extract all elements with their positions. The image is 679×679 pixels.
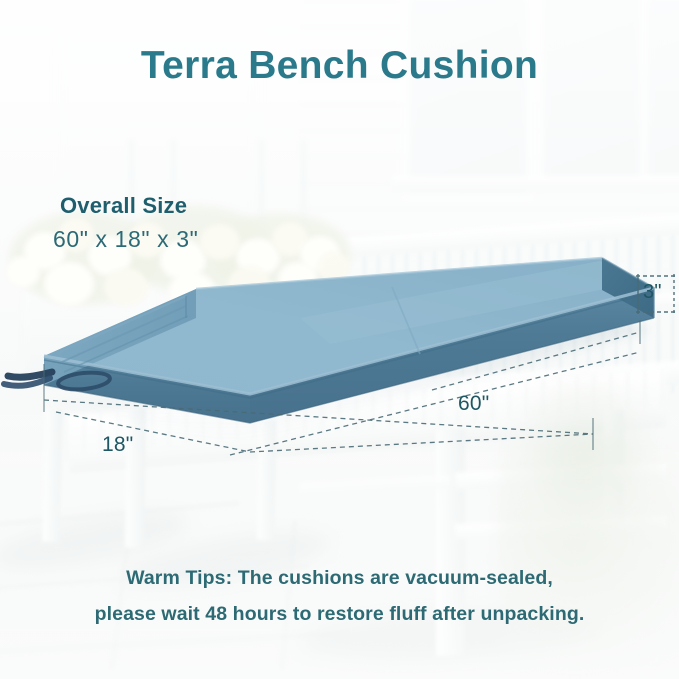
warm-tips-block: Warm Tips: The cushions are vacuum-seale… — [0, 560, 679, 632]
dim-line-depth-front — [44, 398, 591, 427]
dim-leader-18 — [56, 412, 250, 452]
dimension-label-depth: 18" — [102, 433, 133, 457]
warm-tips-line-1: Warm Tips: The cushions are vacuum-seale… — [0, 560, 679, 596]
overall-size-block: Overall Size 60" x 18" x 3" — [53, 193, 198, 253]
warm-tips-line-2: please wait 48 hours to restore fluff af… — [0, 596, 679, 632]
infographic-canvas: 60" 18" 3" Terra Bench Cushion Overall S… — [0, 0, 679, 679]
page-title: Terra Bench Cushion — [0, 44, 679, 88]
dimension-label-length: 60" — [458, 392, 489, 416]
dim-line-18-upper — [44, 400, 593, 434]
dimension-label-height: 3" — [643, 281, 662, 304]
overall-size-value: 60" x 18" x 3" — [53, 226, 198, 253]
overall-size-label: Overall Size — [60, 193, 198, 219]
dim-line-60 — [230, 352, 640, 455]
dim-leader-60 — [432, 332, 640, 390]
